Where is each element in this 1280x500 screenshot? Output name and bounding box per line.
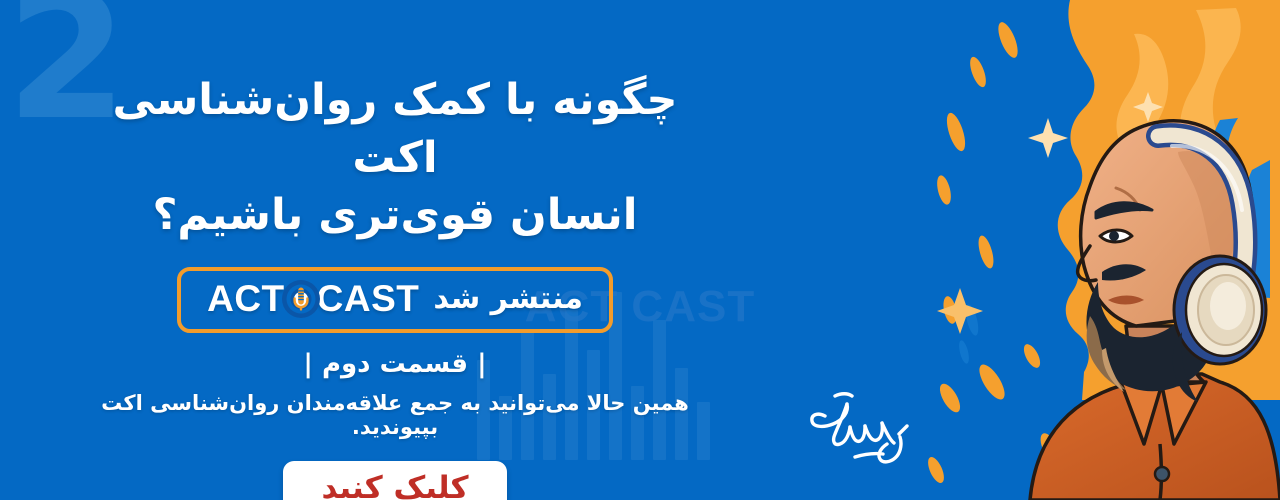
headline-line-1: چگونه با کمک روان‌شناسی اکت <box>65 72 725 187</box>
podcast-host-illustration <box>920 0 1280 500</box>
release-badge: منتشر شد ACT <box>177 267 613 333</box>
release-badge-label: منتشر شد <box>433 281 583 316</box>
headline-line-2: انسان قوی‌تری باشیم؟ <box>65 187 725 245</box>
brand-name: ACT CAST <box>207 278 419 320</box>
microphone-icon <box>281 279 321 319</box>
banner-content: چگونه با کمک روان‌شناسی اکت انسان قوی‌تر… <box>0 0 790 500</box>
page-title: چگونه با کمک روان‌شناسی اکت انسان قوی‌تر… <box>65 72 725 245</box>
brand-part-act: ACT <box>207 278 285 320</box>
click-here-button[interactable]: کلیک کنید <box>283 461 506 500</box>
promo-banner: 2 ACT CAST چگونه با کمک روان‌شناسی اکت ا… <box>0 0 1280 500</box>
episode-label: | قسمت دوم | <box>303 349 486 379</box>
description-text: همین حالا می‌توانید به جمع علاقه‌مندان ر… <box>70 391 720 439</box>
handwritten-signature <box>795 382 915 477</box>
brand-part-cast: CAST <box>317 278 420 320</box>
